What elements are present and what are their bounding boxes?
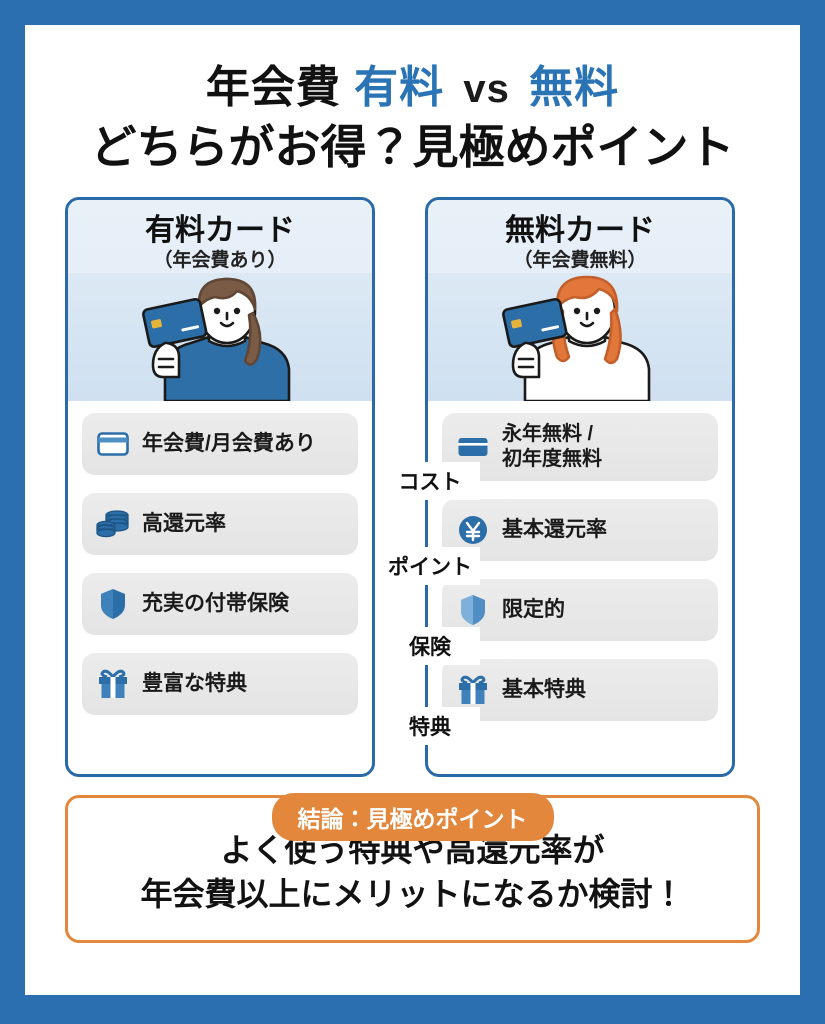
feature-label: 基本特典	[502, 677, 586, 703]
infographic-frame: 年会費 有料 vs 無料 どちらがお得？見極めポイント 有料カード （年会費あり…	[25, 25, 800, 995]
conclusion-text: よく使う特典や高還元率が 年会費以上にメリットになるか検討！	[78, 828, 747, 916]
gift-icon	[96, 667, 130, 701]
title-part-free: 無料	[529, 63, 619, 112]
feature-label: 基本還元率	[502, 517, 607, 543]
column-paid-header: 有料カード （年会費あり）	[68, 200, 372, 401]
feature-row: 基本特典	[442, 659, 718, 721]
column-paid-subtitle: （年会費あり）	[68, 250, 372, 273]
title-line-1: 年会費 有料 vs 無料	[25, 63, 800, 114]
column-paid-card: 有料カード （年会費あり）	[65, 197, 375, 777]
illustration-paid	[68, 273, 372, 401]
comparison-area: 有料カード （年会費あり）	[25, 197, 800, 777]
center-label-insurance: 保険	[380, 627, 480, 665]
feature-label: 永年無料 / 初年度無料	[502, 422, 602, 471]
title-part-vs: vs	[457, 67, 516, 111]
feature-row: 限定的	[442, 579, 718, 641]
title-line-2: どちらがお得？見極めポイント	[25, 120, 800, 175]
title-block: 年会費 有料 vs 無料 どちらがお得？見極めポイント	[25, 25, 800, 175]
feature-row: 豊富な特典	[82, 653, 358, 715]
shield-icon	[96, 587, 130, 621]
feature-label: 豊富な特典	[142, 671, 247, 697]
feature-label: 限定的	[502, 597, 565, 623]
credit-card-icon	[96, 427, 130, 461]
title-part-nenkaihi: 年会費	[206, 63, 341, 112]
center-label-benefit: 特典	[380, 707, 480, 745]
feature-row: 年会費/月会費あり	[82, 413, 358, 475]
feature-label: 充実の付帯保険	[142, 591, 289, 617]
feature-row: 高還元率	[82, 493, 358, 555]
center-label-point: ポイント	[380, 547, 480, 585]
column-paid-features: 年会費/月会費あり	[68, 401, 372, 715]
feature-label: 高還元率	[142, 511, 226, 537]
feature-row: 充実の付帯保険	[82, 573, 358, 635]
feature-row: 永年無料 / 初年度無料	[442, 413, 718, 481]
feature-label: 年会費/月会費あり	[142, 431, 316, 457]
conclusion-area: 結論：見極めポイント よく使う特典や高還元率が 年会費以上にメリットになるか検討…	[25, 795, 800, 943]
feature-row: 基本還元率	[442, 499, 718, 561]
column-paid-title: 有料カード	[68, 214, 372, 247]
coins-stack-icon	[96, 507, 130, 541]
conclusion-badge: 結論：見極めポイント	[272, 793, 554, 841]
center-label-column: コスト ポイント 保険 特典	[380, 197, 480, 777]
title-part-paid: 有料	[354, 63, 444, 112]
center-label-cost: コスト	[380, 462, 480, 500]
